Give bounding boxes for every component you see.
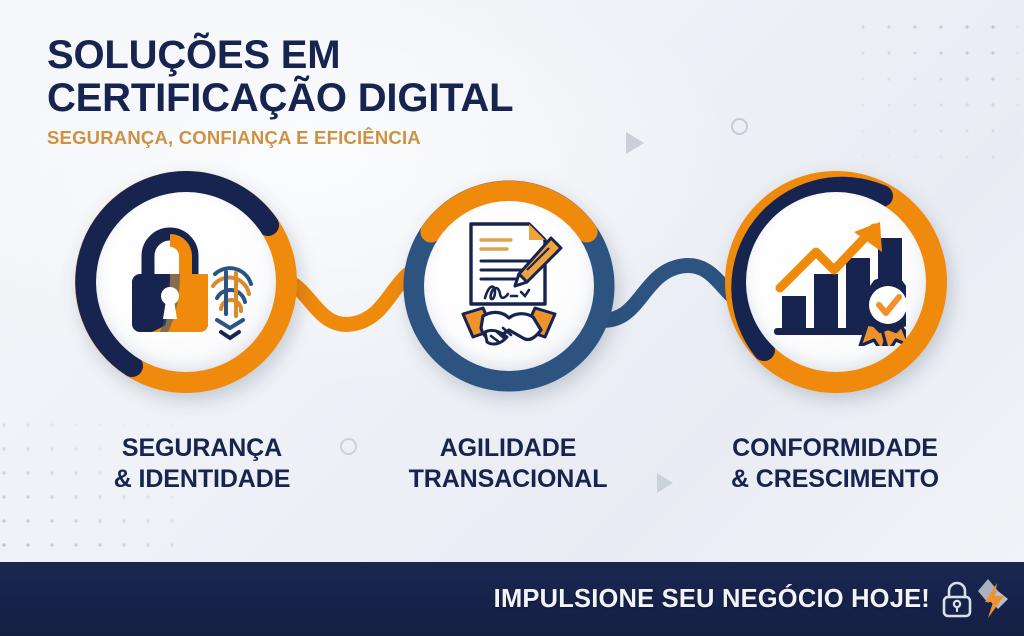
step-node-conformidade-crescimento[interactable] [722,168,950,396]
disc-3 [746,192,926,372]
ring-2 [401,178,617,394]
growth-chart-certificate-icon [766,218,906,346]
padlock-fingerprint-icon [118,222,254,342]
step-caption-seguranca-identidade: SEGURANÇA & IDENTIDADE [37,433,367,494]
lightning-bolt-icon [972,577,1012,621]
cta-banner-icons [940,577,1012,621]
page-title-line-1: SOLUÇÕES EM [47,34,513,77]
headline-block: SOLUÇÕES EM CERTIFICAÇÃO DIGITAL SEGURAN… [47,34,513,149]
infographic-canvas: SOLUÇÕES EM CERTIFICAÇÃO DIGITAL SEGURAN… [0,0,1024,636]
step-caption-agilidade-transacional: AGILIDADE TRANSACIONAL [348,433,668,494]
caption-1-line-2: & IDENTIDADE [37,464,367,495]
caption-2-line-2: TRANSACIONAL [348,464,668,495]
cta-banner-text: IMPULSIONE SEU NEGÓCIO HOJE! [494,585,930,614]
disc-2 [424,201,594,371]
signed-document-handshake-icon [445,220,573,352]
cta-banner[interactable]: IMPULSIONE SEU NEGÓCIO HOJE! [0,562,1024,636]
caption-1-line-1: SEGURANÇA [37,433,367,464]
caption-3-line-1: CONFORMIDADE [665,433,1005,464]
step-caption-conformidade-crescimento: CONFORMIDADE & CRESCIMENTO [665,433,1005,494]
page-title-line-2: CERTIFICAÇÃO DIGITAL [47,77,513,120]
ring-3 [722,168,950,396]
step-node-seguranca-identidade[interactable] [72,168,300,396]
page-subtitle: SEGURANÇA, CONFIANÇA E EFICIÊNCIA [47,127,513,149]
ring-1 [72,168,300,396]
padlock-outline-icon [940,579,974,619]
caption-3-line-2: & CRESCIMENTO [665,464,1005,495]
disc-1 [96,192,276,372]
step-node-agilidade-transacional[interactable] [401,178,617,394]
caption-2-line-1: AGILIDADE [348,433,668,464]
